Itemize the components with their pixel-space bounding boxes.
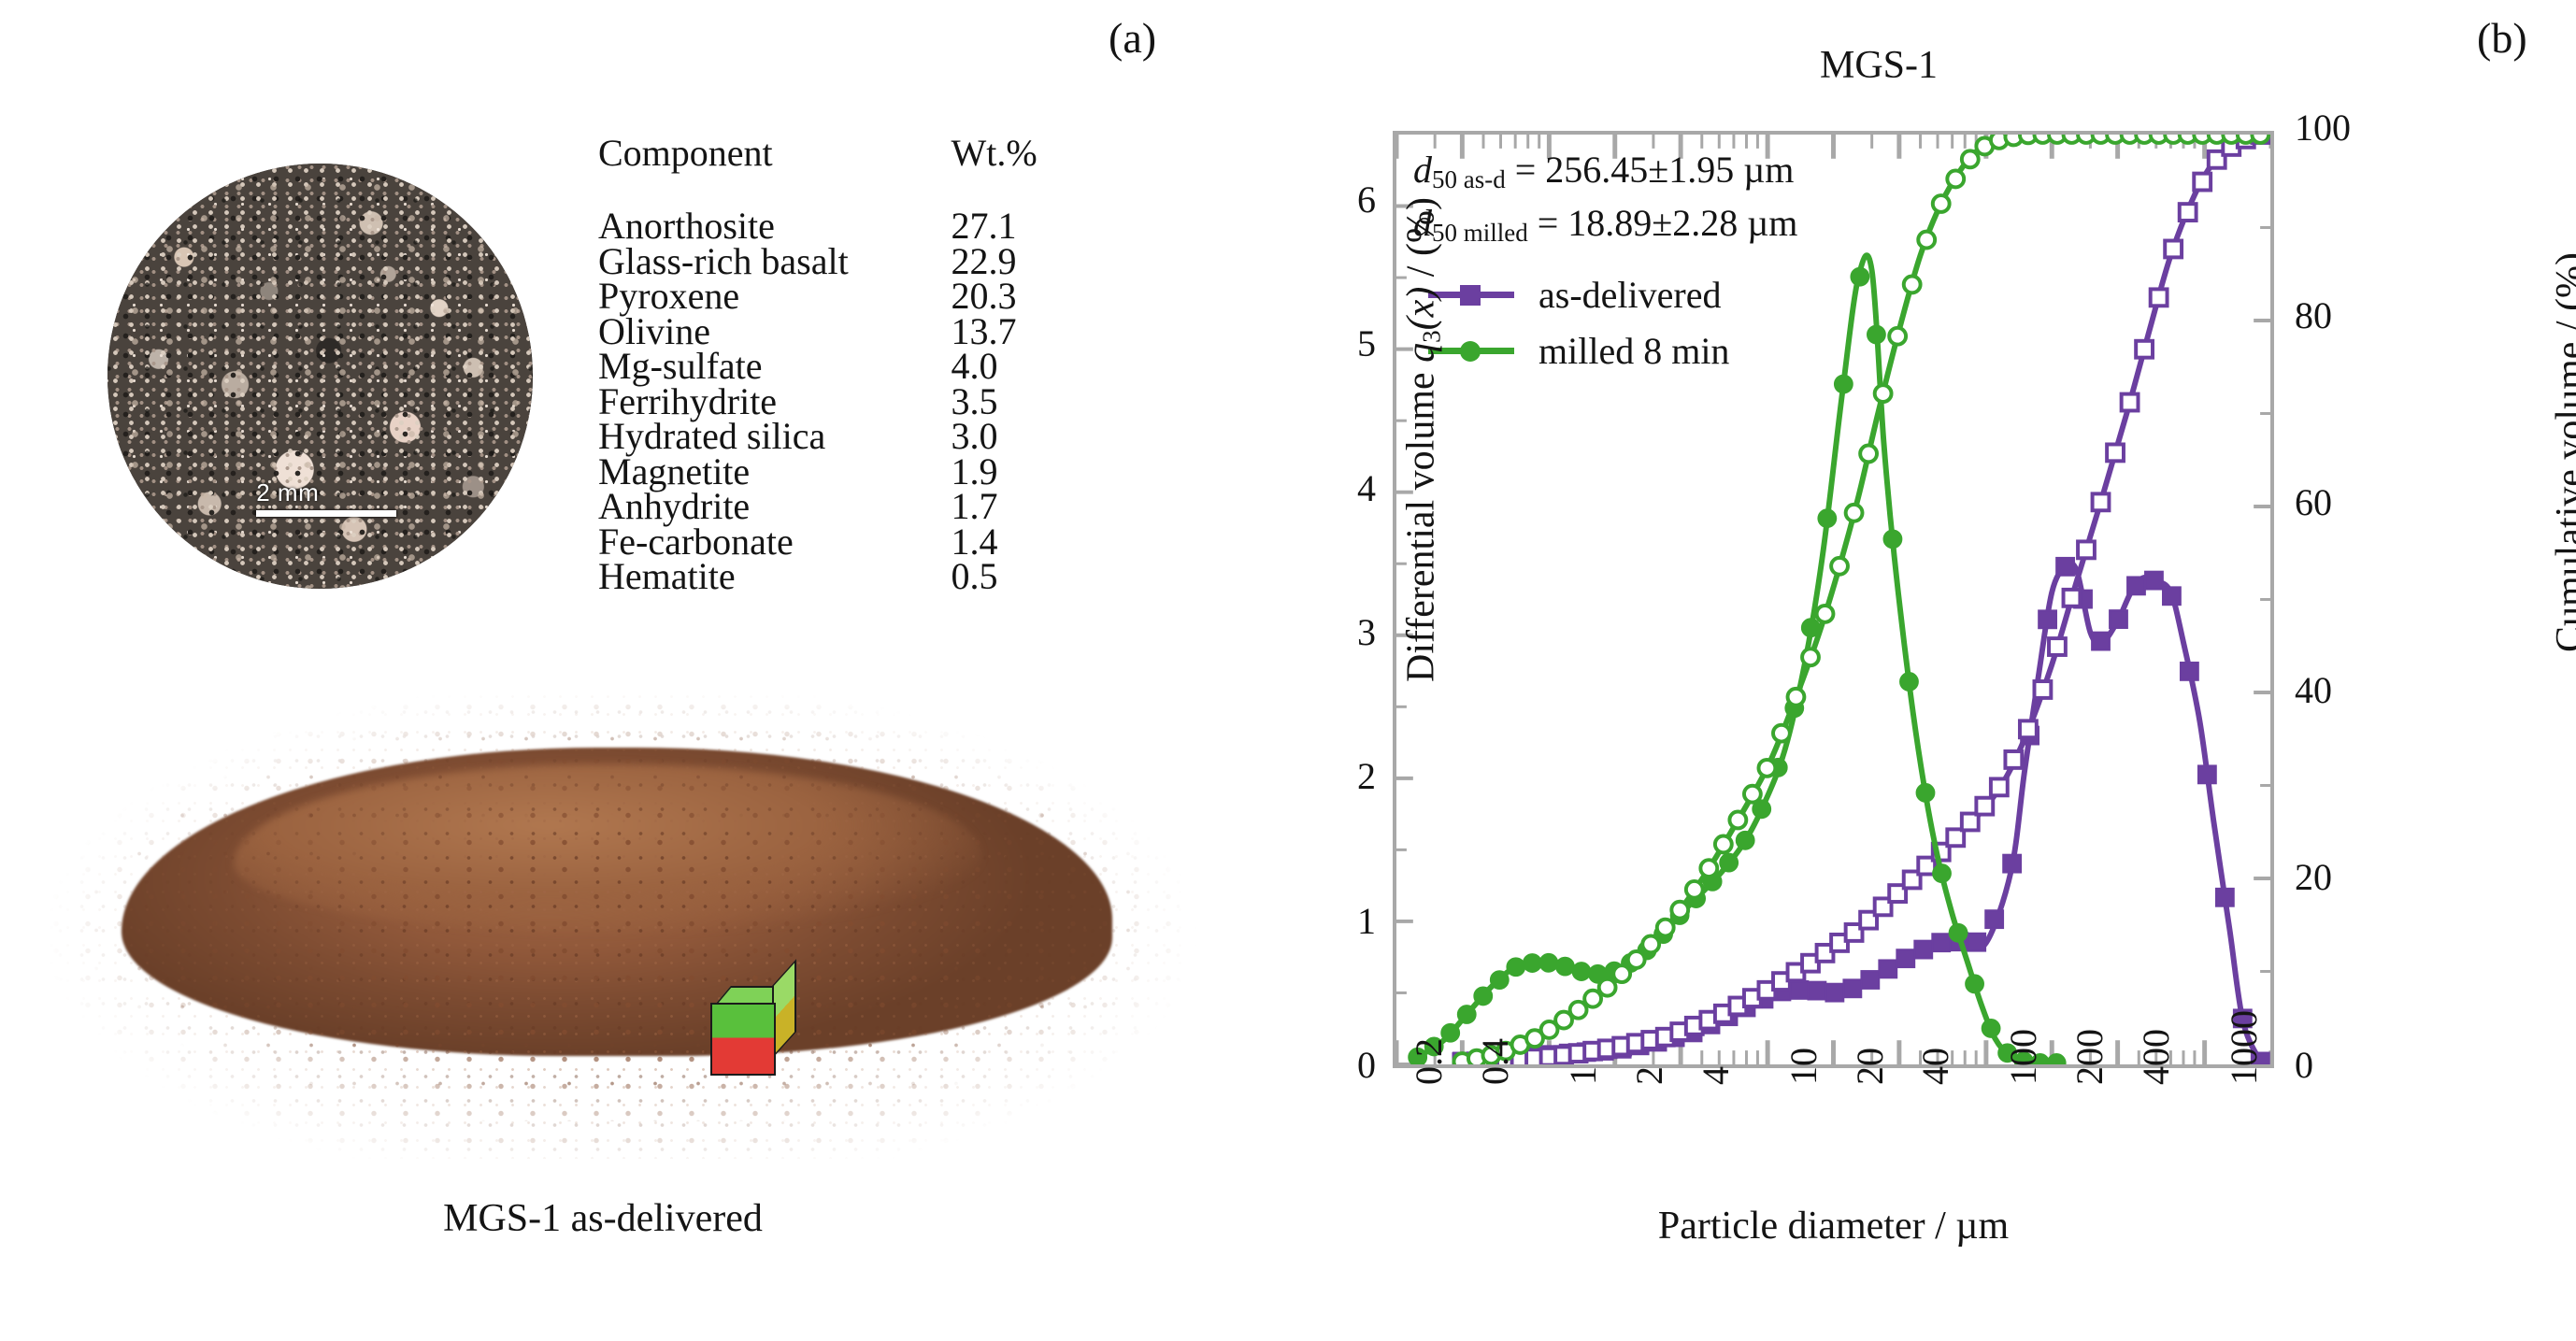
series-0 bbox=[1453, 558, 2269, 1064]
data-point bbox=[2048, 1054, 2066, 1064]
cell-component: Hematite bbox=[598, 559, 930, 594]
cell-component: Anhydrite bbox=[598, 489, 930, 524]
cell-weight: 27.1 bbox=[930, 208, 1122, 244]
data-point bbox=[1584, 991, 1601, 1007]
scale-bar-label: 2 mm bbox=[256, 478, 396, 507]
data-point bbox=[1700, 860, 1717, 877]
data-point bbox=[2252, 135, 2268, 143]
table-row: Fe-carbonate1.4 bbox=[598, 524, 1122, 560]
data-point bbox=[2005, 751, 2022, 768]
data-point bbox=[1458, 1006, 1476, 1023]
legend-marker-circle bbox=[1460, 341, 1481, 362]
data-point bbox=[1790, 981, 1808, 999]
table-header-row: Component Wt.% bbox=[598, 131, 1122, 175]
y-tick-label-left: 1 bbox=[1320, 899, 1376, 943]
data-point bbox=[2181, 663, 2198, 680]
data-point bbox=[1861, 971, 1879, 989]
y-tick-label-left: 0 bbox=[1320, 1043, 1376, 1087]
data-point bbox=[1808, 982, 1825, 1000]
y-tick-label-right: 0 bbox=[2295, 1043, 2379, 1087]
data-point bbox=[1843, 979, 1861, 997]
data-point bbox=[2151, 289, 2168, 306]
data-point bbox=[2194, 174, 2211, 191]
x-tick-label: 400 bbox=[2134, 1029, 2178, 1085]
x-tick-label: 100 bbox=[2001, 1029, 2045, 1085]
x-axis-title: Particle diameter / µm bbox=[1393, 1204, 2274, 1248]
annotation-d50-milled: d50 milled = 18.89±2.28 µm bbox=[1413, 201, 1797, 248]
table-row: Hydrated silica3.0 bbox=[598, 419, 1122, 454]
cell-weight: 13.7 bbox=[930, 314, 1122, 350]
particle-size-distribution-chart: MGS-1 d50 as-d = 256.45±1.95 µm d50 mill… bbox=[1327, 0, 2576, 1341]
data-point bbox=[1599, 979, 1616, 996]
data-point bbox=[1556, 958, 1574, 976]
cell-component: Hydrated silica bbox=[598, 419, 930, 454]
table-row: Hematite0.5 bbox=[598, 559, 1122, 594]
data-point bbox=[2039, 610, 2056, 628]
data-point bbox=[2003, 855, 2021, 873]
cell-weight: 4.0 bbox=[930, 349, 1122, 384]
cell-component: Magnetite bbox=[598, 454, 930, 490]
data-point bbox=[1879, 960, 1896, 977]
cell-component: Olivine bbox=[598, 314, 930, 350]
data-point bbox=[1802, 649, 1819, 665]
data-point bbox=[1900, 673, 1918, 691]
ylabel-sub: 3 bbox=[1418, 330, 1446, 343]
data-point bbox=[1917, 784, 1935, 802]
chart-title: MGS-1 bbox=[1327, 43, 2430, 88]
cell-weight: 1.7 bbox=[930, 489, 1122, 524]
cell-component: Mg-sulfate bbox=[598, 349, 930, 384]
data-point bbox=[1524, 954, 1541, 972]
data-point bbox=[2110, 610, 2127, 628]
table-row: Pyroxene20.3 bbox=[598, 278, 1122, 314]
data-point bbox=[1737, 832, 1754, 849]
data-point bbox=[1889, 328, 1906, 345]
table-row: Magnetite1.9 bbox=[598, 454, 1122, 490]
cell-weight: 20.3 bbox=[930, 278, 1122, 314]
data-point bbox=[1491, 971, 1509, 989]
table-row: Ferrihydrite3.5 bbox=[598, 384, 1122, 420]
data-point bbox=[1720, 854, 1738, 872]
cell-component: Pyroxene bbox=[598, 278, 930, 314]
data-point bbox=[1686, 881, 1703, 898]
x-tick-label: 20 bbox=[1848, 1048, 1892, 1085]
data-point bbox=[1825, 984, 1843, 1002]
data-point bbox=[1613, 965, 1630, 982]
data-point bbox=[1985, 910, 2003, 928]
data-point bbox=[1657, 920, 1674, 936]
x-tick-label: 2 bbox=[1627, 1066, 1671, 1085]
data-point bbox=[1729, 812, 1746, 829]
cell-component: Fe-carbonate bbox=[598, 524, 930, 560]
data-point bbox=[1846, 505, 1863, 521]
data-point bbox=[1962, 150, 1979, 167]
y-tick-label-right: 100 bbox=[2295, 106, 2379, 150]
data-point bbox=[1539, 954, 1557, 972]
chart-legend: as-deliveredmilled 8 min bbox=[1428, 266, 1729, 378]
data-point bbox=[1976, 798, 1993, 815]
legend-label: as-delivered bbox=[1538, 273, 1721, 317]
data-point bbox=[2216, 889, 2234, 906]
data-point bbox=[1982, 1020, 2000, 1037]
data-point bbox=[1950, 924, 1968, 942]
cell-weight: 1.9 bbox=[930, 454, 1122, 490]
data-point bbox=[2078, 541, 2095, 558]
ylabel-pre: Differential volume bbox=[1400, 363, 1443, 682]
data-point bbox=[1947, 171, 1964, 188]
data-point bbox=[2020, 720, 2037, 737]
d50-milled-value: = 18.89±2.28 µm bbox=[1538, 202, 1798, 244]
x-tick-label: 4 bbox=[1694, 1066, 1738, 1085]
ylabel-q: q bbox=[1400, 343, 1443, 363]
data-point bbox=[1933, 864, 1951, 882]
d50-asd-value: = 256.45±1.95 µm bbox=[1515, 149, 1795, 191]
legend-label: milled 8 min bbox=[1538, 329, 1729, 373]
y-tick-label-left: 2 bbox=[1320, 754, 1376, 798]
data-point bbox=[1991, 778, 2008, 795]
data-point bbox=[1773, 725, 1790, 742]
data-point bbox=[1474, 987, 1492, 1005]
legend-marker-square bbox=[1460, 285, 1481, 306]
reference-cube-icon bbox=[710, 986, 802, 1079]
x-tick-label: 1 bbox=[1561, 1066, 1605, 1085]
legend-entry: as-delivered bbox=[1428, 266, 1729, 322]
cell-weight: 0.5 bbox=[930, 559, 1122, 594]
x-tick-label: 10 bbox=[1782, 1048, 1825, 1085]
data-point bbox=[1904, 276, 1921, 292]
ylabel-x: (x) bbox=[1400, 287, 1443, 331]
data-point bbox=[1868, 326, 1885, 344]
data-point bbox=[1628, 951, 1645, 968]
data-point bbox=[1715, 835, 1732, 852]
data-point bbox=[2145, 572, 2163, 590]
scale-bar-line bbox=[256, 510, 396, 517]
data-point bbox=[2122, 394, 2139, 411]
data-point bbox=[2064, 590, 2081, 606]
ylabel-post: / (%) bbox=[1400, 197, 1443, 287]
mgs1-powder-pile-photo bbox=[37, 692, 1206, 1159]
data-point bbox=[2165, 241, 2182, 258]
data-point bbox=[1818, 509, 1836, 527]
data-point bbox=[1835, 376, 1853, 393]
x-tick-label: 0.2 bbox=[1407, 1038, 1451, 1085]
y-axis-right-title: Cumulative volume / (%) bbox=[2548, 209, 2576, 695]
cell-component: Glass-rich basalt bbox=[598, 244, 930, 279]
data-point bbox=[2127, 577, 2145, 594]
legend-entry: milled 8 min bbox=[1428, 322, 1729, 378]
data-point bbox=[1671, 902, 1688, 919]
data-point bbox=[2107, 444, 2124, 461]
data-point bbox=[1831, 558, 1848, 575]
data-point bbox=[1788, 689, 1805, 706]
data-point bbox=[1851, 268, 1868, 286]
cell-component: Anorthosite bbox=[598, 208, 930, 244]
photo-speckle-layer-2 bbox=[107, 164, 533, 589]
data-point bbox=[1758, 760, 1775, 777]
y-tick-label-right: 20 bbox=[2295, 855, 2379, 899]
data-point bbox=[1570, 1002, 1587, 1019]
data-point bbox=[1507, 958, 1524, 976]
composition-table: Component Wt.% Anorthosite27.1Glass-rich… bbox=[598, 131, 1122, 594]
data-point bbox=[1968, 934, 1985, 951]
data-point bbox=[2049, 638, 2066, 655]
table-body: Anorthosite27.1Glass-rich basalt22.9Pyro… bbox=[598, 208, 1122, 594]
data-point bbox=[1817, 606, 1834, 622]
data-point bbox=[1642, 936, 1659, 953]
data-point bbox=[2180, 204, 2197, 221]
header-component: Component bbox=[598, 131, 930, 175]
data-point bbox=[1933, 195, 1950, 212]
cell-weight: 22.9 bbox=[930, 244, 1122, 279]
table-row: Anorthosite27.1 bbox=[598, 208, 1122, 244]
data-point bbox=[2163, 587, 2181, 605]
y-tick-label-right: 80 bbox=[2295, 293, 2379, 337]
x-tick-label: 0.4 bbox=[1473, 1038, 1517, 1085]
x-tick-label: 200 bbox=[2068, 1029, 2111, 1085]
cell-weight: 3.0 bbox=[930, 419, 1122, 454]
data-point bbox=[1896, 949, 1914, 967]
y-tick-label-right: 40 bbox=[2295, 668, 2379, 712]
data-point bbox=[1573, 963, 1591, 980]
x-tick-label: 1000 bbox=[2222, 1010, 2266, 1085]
data-point bbox=[1744, 786, 1761, 803]
data-point bbox=[1875, 385, 1892, 402]
x-tick-label: 40 bbox=[1913, 1048, 1957, 1085]
y-tick-label-left: 5 bbox=[1320, 321, 1376, 365]
table-row: Anhydrite1.7 bbox=[598, 489, 1122, 524]
data-point bbox=[1966, 975, 1983, 992]
header-weight: Wt.% bbox=[930, 131, 1122, 175]
data-point bbox=[2056, 558, 2074, 576]
data-point bbox=[1932, 934, 1950, 951]
data-point bbox=[2136, 341, 2153, 358]
table-row: Olivine13.7 bbox=[598, 314, 1122, 350]
scale-bar: 2 mm bbox=[256, 478, 396, 517]
cell-component: Ferrihydrite bbox=[598, 384, 930, 420]
data-point bbox=[2198, 765, 2216, 783]
cell-weight: 1.4 bbox=[930, 524, 1122, 560]
data-point bbox=[1884, 530, 1902, 548]
cube-front-face bbox=[710, 1003, 776, 1076]
y-tick-label-left: 4 bbox=[1320, 466, 1376, 510]
left-panel-figure-a: 2 mm Component Wt.% Anorthosite27.1Glass… bbox=[0, 0, 1327, 1341]
y-tick-label-right: 60 bbox=[2295, 480, 2379, 524]
mgs1-granule-photo: 2 mm bbox=[107, 164, 533, 589]
data-point bbox=[1860, 446, 1877, 463]
left-panel-caption: MGS-1 as-delivered bbox=[0, 1196, 1206, 1241]
y-axis-left-title: Differential volume q3(x) / (%) bbox=[1399, 178, 1447, 702]
y-tick-label-left: 6 bbox=[1320, 178, 1376, 221]
y-tick-label-left: 3 bbox=[1320, 610, 1376, 654]
powder-scatter-edge bbox=[75, 720, 1168, 1121]
table-row: Glass-rich basalt22.9 bbox=[598, 244, 1122, 279]
data-point bbox=[1918, 232, 1935, 249]
data-point bbox=[1914, 941, 1932, 959]
table-row: Mg-sulfate4.0 bbox=[598, 349, 1122, 384]
cell-weight: 3.5 bbox=[930, 384, 1122, 420]
data-point bbox=[2092, 633, 2110, 650]
data-point bbox=[2093, 493, 2110, 510]
data-point bbox=[2034, 681, 2051, 698]
annotation-d50-as-delivered: d50 as-d = 256.45±1.95 µm bbox=[1413, 148, 1794, 194]
